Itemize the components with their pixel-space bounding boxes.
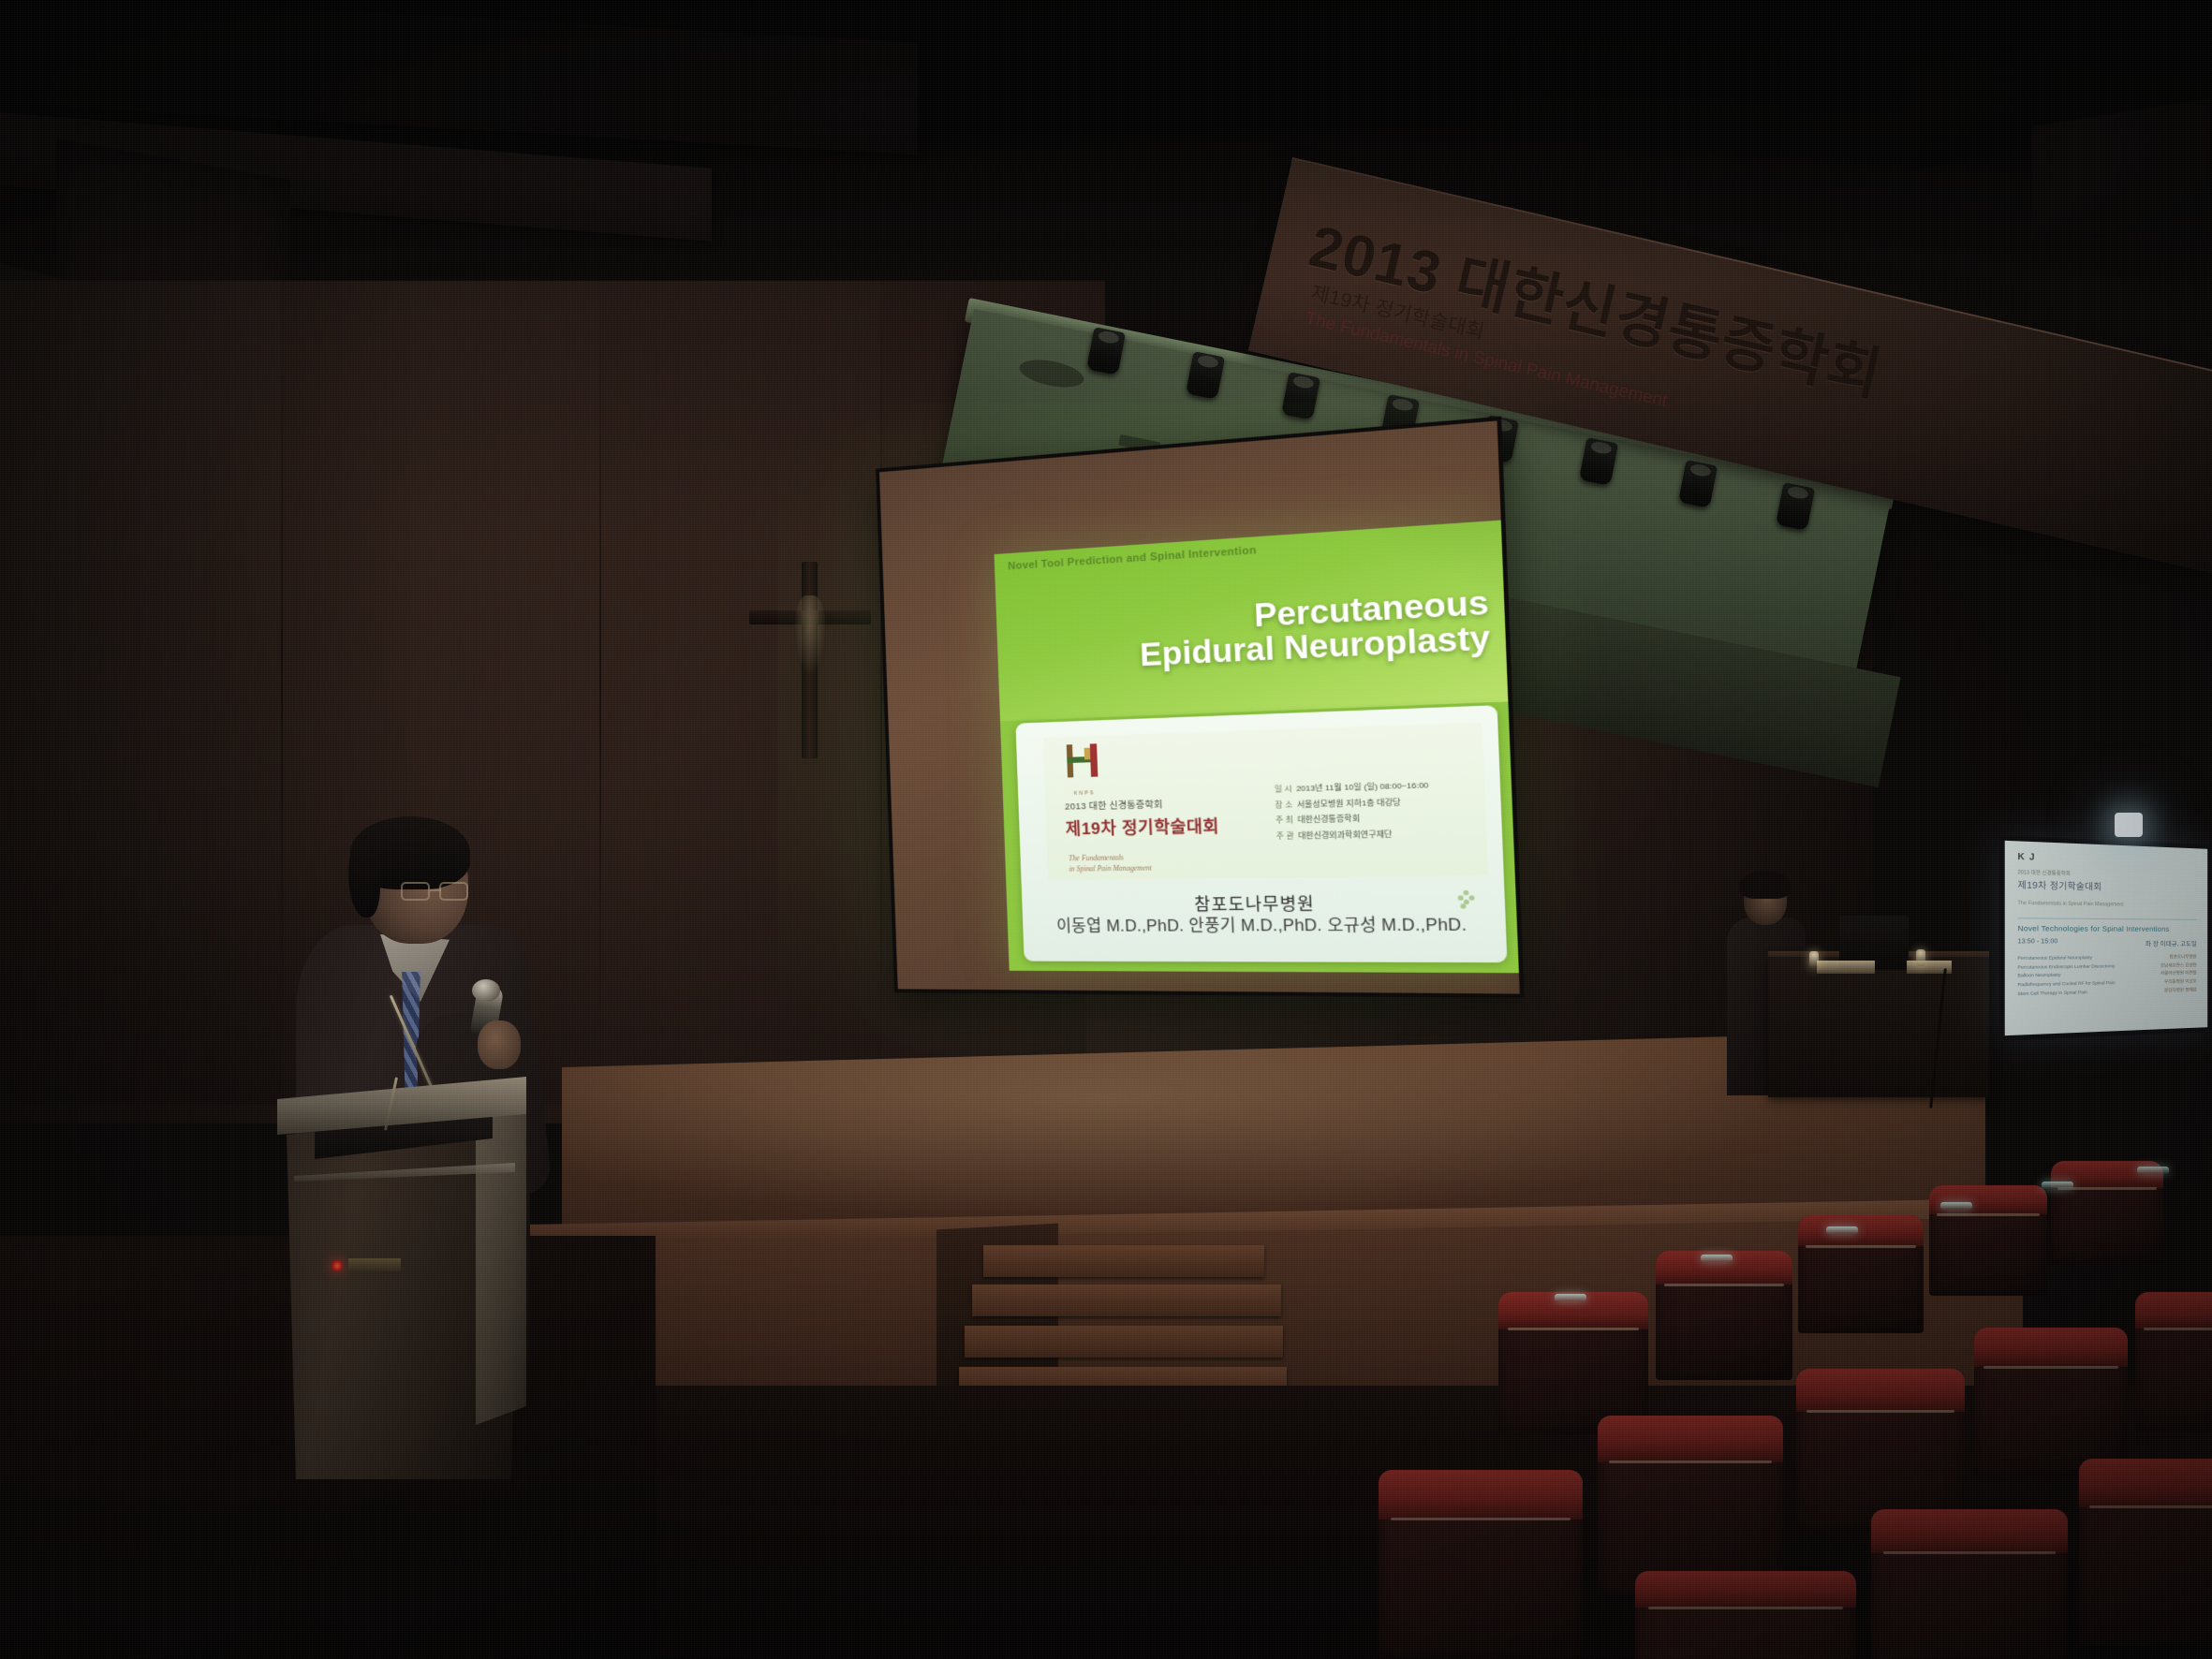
presentation-slide: Novel Tool Prediction and Spinal Interve… xyxy=(995,521,1519,974)
poster-info-value-0: 2013년 11월 10일 (일) 08:00~16:00 xyxy=(1296,781,1429,793)
poster-tagline-line2: in Spinal Pain Management xyxy=(1069,861,1277,875)
seat xyxy=(1871,1509,2068,1659)
monitor-row-topic: Stem Cell Therapy in Spinal Pain xyxy=(2017,989,2087,999)
av-papers-left xyxy=(1817,961,1875,974)
poster-info-value-1: 서울성모병원 지하1층 대강당 xyxy=(1297,798,1401,809)
wall-panel-1 xyxy=(0,281,281,1105)
slide-authors: 이동엽 M.D.,PhD. 안풍기 M.D.,PhD. 오규성 M.D.,PhD… xyxy=(1023,911,1507,936)
wall-seam-1 xyxy=(281,281,283,1086)
monitor-session-title: Novel Technologies for Spinal Interventi… xyxy=(2017,918,2196,933)
society-logo-icon: KNPS xyxy=(1063,741,1105,784)
grape-logo-icon xyxy=(1457,890,1476,909)
eyeglasses-icon xyxy=(401,882,474,903)
monitor-row-speaker: 분당차병원 정태섭 xyxy=(2164,986,2197,995)
audience-seating xyxy=(581,1161,2212,1659)
aisle-light xyxy=(1555,1294,1586,1301)
aisle-light xyxy=(2042,1182,2073,1189)
aisle-light xyxy=(1826,1226,1858,1234)
projection-screen: Novel Tool Prediction and Spinal Interve… xyxy=(876,417,1525,998)
monitor-row-topic: Percutaneous Endoscopic Lumbar Discectom… xyxy=(2017,962,2115,973)
crucifix-icon xyxy=(749,562,871,758)
aisle-light xyxy=(1940,1202,1972,1210)
aisle-light xyxy=(1701,1255,1733,1262)
monitor-tagline: The Fundamentals in Spinal Pain Manageme… xyxy=(2017,898,2196,910)
poster-info-line-3: 주 관대한신경외과학회연구재단 xyxy=(1276,825,1486,844)
wall-seam-2 xyxy=(599,281,601,1086)
monitor-event-line: 제19차 정기학술대회 xyxy=(2017,878,2196,895)
microphone-head-icon xyxy=(472,979,500,1002)
conference-poster-block: KNPS 2013 대한 신경통증학회 제19차 정기학술대회 The Fund… xyxy=(1043,722,1488,880)
program-monitor-screen: K J 2013 대한 신경통증학회 제19차 정기학술대회 The Funda… xyxy=(2005,841,2207,1035)
lectern xyxy=(277,1077,526,1479)
program-monitor: K J 2013 대한 신경통증학회 제19차 정기학술대회 The Funda… xyxy=(1999,835,2212,1041)
poster-info-label-0: 일 시 xyxy=(1275,785,1292,794)
speaker-hand xyxy=(478,1020,521,1069)
av-lamp-right xyxy=(1916,949,1925,966)
monitor-logo: K J xyxy=(2017,851,2196,867)
poster-right-column: 일 시2013년 11월 10일 (일) 08:00~16:00 장 소서울성모… xyxy=(1272,722,1488,877)
poster-info-label-1: 장 소 xyxy=(1275,800,1292,809)
av-operator-hair xyxy=(1740,871,1791,899)
poster-info-label-2: 주 최 xyxy=(1276,815,1293,825)
poster-event-line: 제19차 정기학술대회 xyxy=(1065,811,1276,840)
poster-left-column: KNPS 2013 대한 신경통증학회 제19차 정기학술대회 The Fund… xyxy=(1043,729,1278,880)
aisle-light xyxy=(2137,1167,2169,1174)
seat xyxy=(1974,1328,2128,1479)
slide-white-card: KNPS 2013 대한 신경통증학회 제19차 정기학술대회 The Fund… xyxy=(1015,705,1507,962)
poster-info-label-3: 주 관 xyxy=(1276,831,1294,841)
seat xyxy=(1656,1251,1792,1380)
monitor-program-rows: Percutaneous Epidural Neuroplasty 참포도나무병… xyxy=(2017,953,2196,999)
seat xyxy=(2135,1292,2212,1432)
av-lamp-left xyxy=(1809,951,1819,968)
seat xyxy=(1379,1470,1583,1659)
monitor-moderators: 좌 장 이대규, 고도일 xyxy=(2146,938,2197,947)
lectern-control-plate xyxy=(348,1258,401,1271)
lectern-side-panel xyxy=(476,1097,526,1453)
monitor-session-meta: 13:50 - 15:00 좌 장 이대규, 고도일 xyxy=(2017,938,2196,948)
seat xyxy=(1635,1571,1856,1659)
poster-info-value-2: 대한신경통증학회 xyxy=(1297,815,1360,825)
poster-tagline: The Fundamentals in Spinal Pain Manageme… xyxy=(1069,850,1277,875)
poster-society-line: 2013 대한 신경통증학회 xyxy=(1065,794,1276,813)
lecture-hall-photo: 2013 대한신경통증학회 제19차 정기학술대회 The Fundamenta… xyxy=(0,0,2212,1659)
seat xyxy=(1798,1215,1924,1333)
seat xyxy=(2079,1459,2212,1646)
seat xyxy=(1598,1416,1783,1595)
society-logo-caption: KNPS xyxy=(1074,790,1096,797)
seat xyxy=(1498,1292,1648,1434)
wall-seam-3 xyxy=(880,281,882,1086)
av-table xyxy=(1768,957,1989,1097)
poster-info-value-3: 대한신경외과학회연구재단 xyxy=(1298,829,1393,841)
monitor-row-speaker: 참포도나무병원 xyxy=(2170,953,2197,962)
ceiling-can-light xyxy=(1017,355,1086,391)
power-indicator-led xyxy=(332,1260,343,1271)
projection-screen-surface: Novel Tool Prediction and Spinal Interve… xyxy=(879,420,1520,993)
seat xyxy=(2051,1161,2163,1264)
speaker-hair-side xyxy=(348,837,380,918)
av-control-station xyxy=(1723,871,2004,1105)
exit-sign-icon xyxy=(2115,813,2143,837)
monitor-time-range: 13:50 - 15:00 xyxy=(2017,938,2057,948)
